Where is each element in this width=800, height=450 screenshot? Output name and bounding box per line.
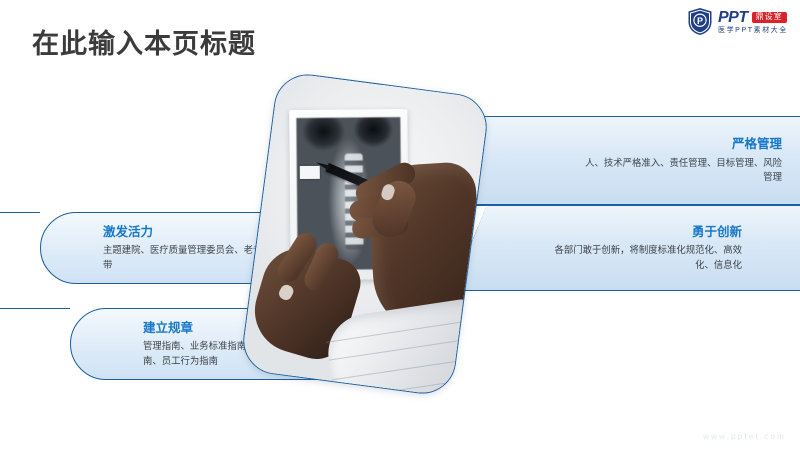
- slide-canvas: 在此输入本页标题 P PPT 鼎设室 医学PPT素材大全 严格管理: [0, 0, 800, 450]
- info-box-strict-management[interactable]: 严格管理 人、技术严格准入、责任管理、目标管理、风险管理: [452, 116, 800, 205]
- svg-text:P: P: [697, 16, 703, 26]
- page-title: 在此输入本页标题: [32, 22, 256, 61]
- brand-logo[interactable]: P PPT 鼎设室 医学PPT素材大全: [687, 7, 788, 36]
- footer-watermark: www.ppter.com: [703, 432, 786, 441]
- xray-film-photo: [239, 70, 491, 397]
- box-body: 人、技术严格准入、责任管理、目标管理、风险管理: [582, 156, 782, 185]
- box-body: 各部门敢于创新，将制度标准化规范化、高效化、信息化: [546, 243, 742, 272]
- box-heading: 勇于创新: [692, 224, 742, 240]
- logo-brand-word: PPT: [718, 10, 748, 26]
- logo-text-block: PPT 鼎设室 医学PPT素材大全: [718, 10, 788, 34]
- box-heading: 激发活力: [103, 224, 153, 240]
- connector-line-left-lower: [0, 308, 70, 309]
- logo-tagline: 医学PPT素材大全: [718, 27, 788, 34]
- info-box-dare-to-innovate[interactable]: 勇于创新 各部门敢于创新，将制度标准化规范化、高效化、信息化: [452, 205, 800, 291]
- connector-line-left-upper: [0, 212, 40, 213]
- box-heading: 严格管理: [732, 136, 782, 152]
- box-heading: 建立规章: [143, 320, 193, 336]
- xray-label-tag: [300, 166, 320, 179]
- logo-badge: 鼎设室: [752, 12, 787, 23]
- photo-background: [240, 71, 489, 396]
- shield-icon: P: [687, 7, 713, 36]
